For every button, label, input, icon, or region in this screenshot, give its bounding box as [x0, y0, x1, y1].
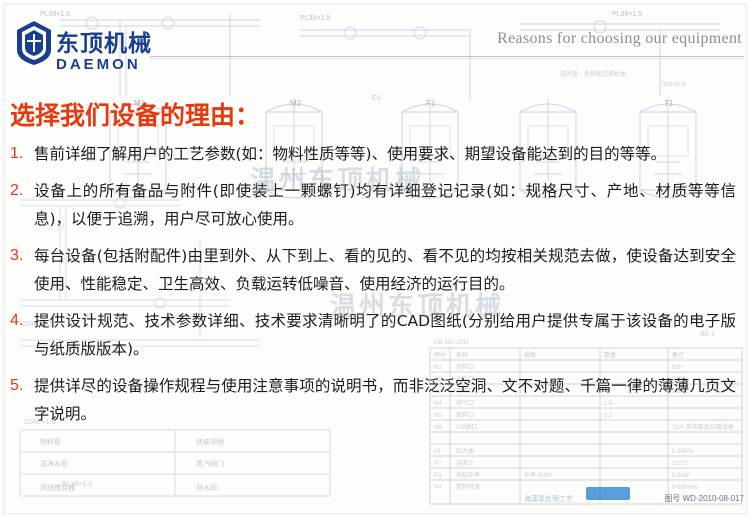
svg-text:P4: P4 — [434, 485, 442, 491]
header-tagline: Reasons for choosing our equipment — [497, 30, 742, 48]
svg-text:蒸汽阀门: 蒸汽阀门 — [196, 459, 224, 468]
svg-text:洁净水管: 洁净水管 — [40, 459, 68, 468]
svg-text:功率 (kW): 功率 (kW) — [524, 471, 552, 479]
drawing-stamp-badge — [586, 487, 630, 500]
list-item: 提供详尽的设备操作规程与使用注意事项的说明书，而非泛泛空洞、文不对题、千篇一律的… — [10, 372, 736, 428]
svg-text:排水阀: 排水阀 — [196, 483, 217, 492]
list-item: 设备上的所有备品与附件(即使装上一颗螺钉)均有详细登记记录(如：规格尺寸、产地、… — [10, 177, 736, 233]
svg-text:5.5kW: 5.5kW — [672, 473, 689, 479]
svg-text:搅拌转速: 搅拌转速 — [456, 483, 480, 491]
list-item: 提供设计规范、技术参数详细、技术要求清晰明了的CAD图纸(分别给用户提供专属于该… — [10, 307, 736, 363]
reasons-list: 售前详细了解用户的工艺参数(如：物料性质等等)、使用要求、期望设备能达到的目的等… — [0, 140, 750, 428]
page-title: 选择我们设备的理由： — [10, 96, 750, 132]
svg-text:0-60r/min: 0-60r/min — [672, 485, 697, 491]
svg-text:0.3MPa: 0.3MPa — [672, 449, 693, 455]
svg-text:电机功率: 电机功率 — [456, 471, 480, 479]
svg-text:压力表: 压力表 — [456, 447, 474, 455]
content-area: 选择我们设备的理由： 售前详细了解用户的工艺参数(如：物料性质等等)、使用要求、… — [0, 96, 750, 437]
svg-text:快装视镜: 快装视镜 — [196, 437, 224, 446]
header-divider — [150, 56, 744, 57]
svg-text:丙炔搅拌器: 丙炔搅拌器 — [40, 483, 75, 492]
svg-text:120℃: 120℃ — [672, 461, 689, 467]
list-item: 售前详细了解用户的工艺参数(如：物料性质等等)、使用要求、期望设备能达到的目的等… — [10, 140, 736, 168]
svg-text:物料管: 物料管 — [40, 437, 61, 446]
svg-text:P2: P2 — [434, 461, 442, 467]
logo-mark-icon — [14, 20, 54, 66]
svg-text:温度计: 温度计 — [456, 459, 474, 467]
header-divider-secondary — [150, 58, 744, 59]
svg-text:P3: P3 — [434, 473, 442, 479]
page-root: PL38×1.5 PL38×1.5 PL38×1.5 进光管、余热板过滤机本 7… — [0, 0, 750, 518]
page-header: 东顶机械 DAEMON Reasons for choosing our equ… — [0, 0, 750, 86]
drawing-number: 图号 WD-2010-08-017 — [664, 493, 744, 504]
company-logo: 东顶机械 DAEMON — [12, 10, 152, 80]
logo-chinese-name: 东顶机械 — [56, 24, 152, 58]
svg-text:PL38×1.5: PL38×1.5 — [62, 481, 92, 488]
svg-text:P1: P1 — [434, 449, 442, 455]
logo-english-name: DAEMON — [56, 56, 141, 73]
list-item: 每台设备(包括附配件)由里到外、从下到上、看的见的、看不见的均按相关规范去做，使… — [10, 242, 736, 298]
svg-text:海藻浆处理工艺: 海藻浆处理工艺 — [524, 494, 573, 503]
